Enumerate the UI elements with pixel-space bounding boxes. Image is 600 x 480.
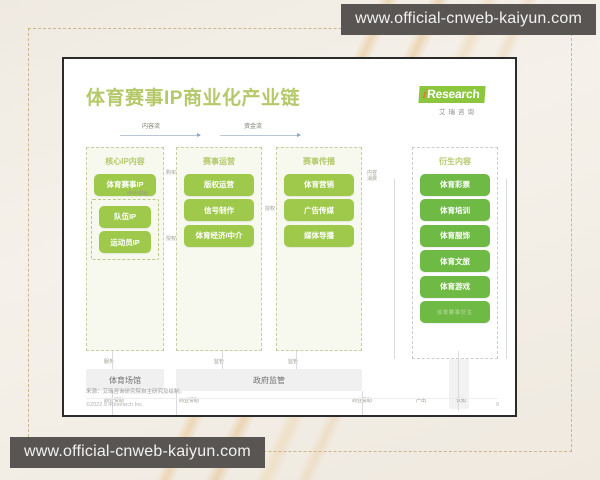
- column-core-ip-content: 核心IP内容 体育赛事IP 队伍IP 运动员IP: [86, 147, 164, 351]
- flow-arrow-money: [220, 135, 300, 136]
- column-title: 赛事传播: [277, 152, 361, 170]
- chip-media-broadcast[interactable]: 媒体导播: [284, 225, 354, 247]
- chip-team-ip[interactable]: 队伍IP: [99, 206, 151, 228]
- flow-label-money: 资金流: [244, 121, 262, 130]
- flow-arrow-content: [120, 135, 200, 136]
- chip-sports-training[interactable]: 体育培训: [420, 199, 490, 221]
- connector-line: [112, 351, 113, 369]
- label-license-2: 授权: [265, 207, 275, 213]
- label-content-consume: 内容消费: [367, 171, 381, 183]
- label-purchase: 购买: [166, 171, 176, 177]
- column-event-broadcast: 赛事传播 体育营销 广告传媒 媒体导播: [276, 147, 362, 351]
- chip-sports-agency[interactable]: 体育经济/中介: [184, 225, 254, 247]
- connector-line: [506, 179, 507, 359]
- column-event-operation: 赛事运营 版权运营 信号制作 体育经济/中介: [176, 147, 262, 351]
- connector-line: [394, 179, 395, 359]
- copyright-note: ©2022.9 iResearch Inc.: [86, 398, 498, 408]
- connector-line: [296, 351, 297, 369]
- logo-mark: iResearch: [418, 86, 485, 103]
- watermark-bottom: www.official-cnweb-kaiyun.com: [10, 437, 265, 468]
- flow-label-content: 内容流: [142, 121, 160, 130]
- infographic-slide: 体育赛事IP商业化产业链 iResearch 艾瑞咨询 内容流 资金流 核心IP…: [62, 57, 517, 417]
- page-title: 体育赛事IP商业化产业链: [86, 83, 300, 110]
- column-title: 核心IP内容: [87, 152, 163, 170]
- subgroup-team-athlete: 队伍IP 运动员IP: [91, 199, 159, 260]
- chip-athlete-ip[interactable]: 运动员IP: [99, 231, 151, 253]
- chip-sports-apparel[interactable]: 体育服饰: [420, 225, 490, 247]
- chip-signal-production[interactable]: 信号制作: [184, 199, 254, 221]
- chip-sports-derivative[interactable]: 体育赛事衍生: [420, 301, 490, 323]
- watermark-top: www.official-cnweb-kaiyun.com: [341, 4, 596, 35]
- chip-copyright-operation[interactable]: 版权运营: [184, 174, 254, 196]
- logo-subtitle: 艾瑞咨询: [419, 106, 497, 116]
- chip-sports-gaming[interactable]: 体育游戏: [420, 276, 490, 298]
- chip-sports-lottery[interactable]: 体育彩票: [420, 174, 490, 196]
- chip-sports-tourism[interactable]: 体育文旅: [420, 250, 490, 272]
- iresearch-logo: iResearch 艾瑞咨询: [419, 85, 497, 116]
- logo-name: Research: [427, 87, 480, 101]
- label-cultivate-supply: 培养/供给: [127, 192, 149, 198]
- support-block-government[interactable]: 政府监管: [176, 369, 362, 391]
- chip-ad-media[interactable]: 广告传媒: [284, 199, 354, 221]
- chip-sports-marketing[interactable]: 体育营销: [284, 174, 354, 196]
- label-license-1: 授权: [166, 237, 176, 243]
- column-title: 衍生内容: [413, 152, 497, 170]
- sponsor-bar[interactable]: 赞助商: [86, 415, 498, 417]
- connector-line: [222, 351, 223, 369]
- source-note: 来源：艾瑞咨询研究院自主研究及绘制。: [86, 387, 185, 395]
- page-number: 8: [496, 402, 499, 408]
- column-derivative-content: 衍生内容 体育彩票 体育培训 体育服饰 体育文旅 体育游戏 体育赛事衍生: [412, 147, 498, 359]
- column-title: 赛事运营: [177, 152, 261, 170]
